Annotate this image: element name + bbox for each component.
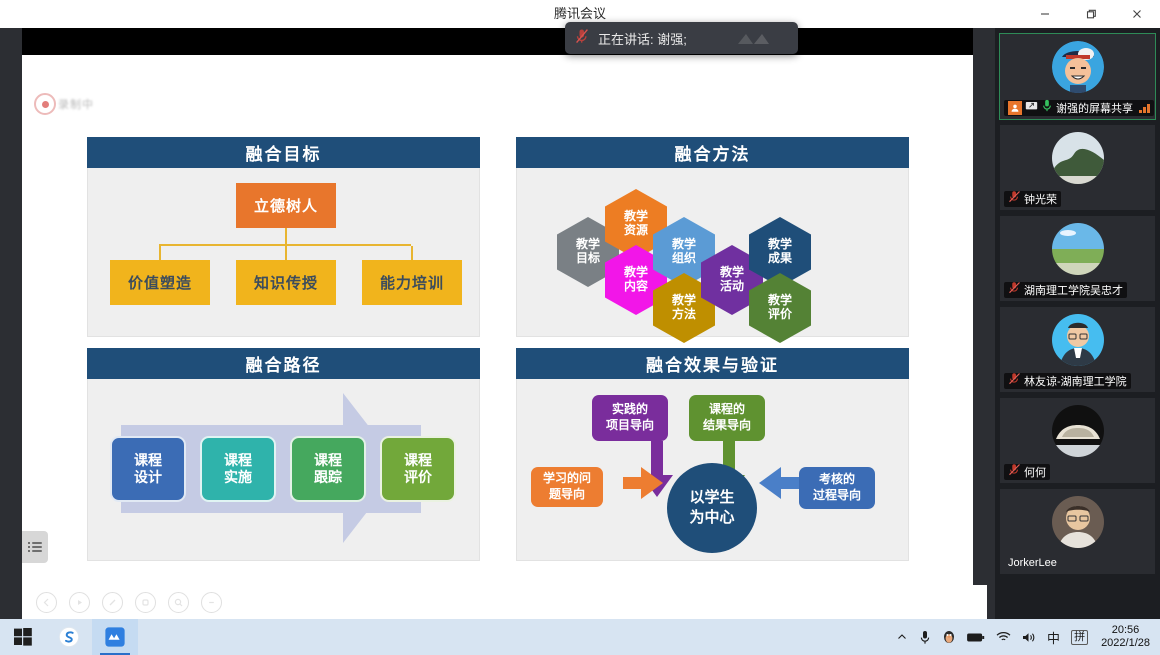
recording-icon [34, 93, 56, 115]
avatar [1052, 405, 1104, 457]
quadrant-goals-body: 立德树人 价值塑造 知识传授 能力培训 [87, 168, 480, 337]
participant-tile[interactable]: JorkerLee [1000, 489, 1155, 574]
ime-mode[interactable]: 中 [1047, 628, 1060, 647]
ppt-top-band [22, 28, 973, 55]
participant-tile[interactable]: 钟光荣 [1000, 125, 1155, 210]
wps-icon[interactable] [92, 619, 138, 655]
avatar [1052, 314, 1104, 366]
path-step: 课程设计 [110, 436, 186, 502]
effect-center-circle: 以学生为中心 [667, 463, 757, 553]
avatar [1052, 223, 1104, 275]
path-step: 课程评价 [380, 436, 456, 502]
participant-tile[interactable]: 谢强的屏幕共享 [1000, 34, 1155, 119]
pointer-hand-icon[interactable] [135, 592, 156, 613]
hexagon-cluster: 教学目标教学资源教学内容教学组织教学方法教学活动教学成果教学评价 [517, 168, 910, 336]
clock[interactable]: 20:56 2022/1/28 [1099, 624, 1150, 650]
penguin-icon[interactable] [942, 630, 956, 645]
participant-nametag: 何何 [1004, 464, 1050, 480]
goal-root-node: 立德树人 [236, 183, 336, 228]
avatar [1052, 496, 1104, 548]
window-controls [1022, 0, 1160, 28]
participant-nametag: 谢强的屏幕共享 [1004, 100, 1154, 116]
sogou-icon[interactable] [46, 619, 92, 655]
mic-muted-icon [1008, 372, 1021, 390]
mic-on-green-icon [1041, 99, 1053, 117]
minimize-button[interactable] [1022, 0, 1068, 28]
restore-button[interactable] [1068, 0, 1114, 28]
quadrant-path-title: 融合路径 [87, 348, 480, 379]
effect-box: 实践的项目导向 [592, 395, 668, 441]
clock-date: 2022/1/28 [1101, 637, 1150, 650]
participant-nametag: 钟光荣 [1004, 191, 1061, 207]
quadrant-effect: 融合效果与验证 实践的项目导向课程的结果导向学习的问题导向考核的过程导向 以学生… [516, 348, 909, 561]
goal-connector-drop-3 [411, 246, 413, 260]
start-button[interactable] [0, 619, 46, 655]
play-icon[interactable] [69, 592, 90, 613]
right-rail [973, 28, 995, 620]
windows-taskbar: 中 拼 20:56 2022/1/28 [0, 619, 1160, 655]
goal-connector-drop-2 [285, 246, 287, 260]
effect-box: 课程的结果导向 [689, 395, 765, 441]
left-rail [0, 28, 22, 620]
participant-name: 林友谅-湖南理工学院 [1024, 373, 1127, 389]
zoom-icon[interactable] [168, 592, 189, 613]
pen-icon[interactable] [102, 592, 123, 613]
participant-name: 湖南理工学院吴忠才 [1024, 282, 1123, 298]
speaker-text: 正在讲话: 谢强; [598, 29, 687, 48]
quadrant-path-body: 课程设计课程实施课程跟踪课程评价 [87, 379, 480, 561]
participant-tile[interactable]: 林友谅-湖南理工学院 [1000, 307, 1155, 392]
system-tray: 中 拼 20:56 2022/1/28 [896, 624, 1160, 650]
close-button[interactable] [1114, 0, 1160, 28]
participant-nametag: 湖南理工学院吴忠才 [1004, 282, 1127, 298]
goal-child-3: 能力培训 [362, 260, 462, 305]
mic-icon[interactable] [919, 630, 931, 645]
quadrant-goals-title: 融合目标 [87, 137, 480, 168]
participant-tile[interactable]: 何何 [1000, 398, 1155, 483]
mic-muted-icon [1008, 281, 1021, 299]
participant-name: 钟光荣 [1024, 191, 1057, 207]
speaker-icon[interactable] [1022, 631, 1036, 644]
screen-share-icon [1025, 99, 1038, 117]
participant-name: 何何 [1024, 464, 1046, 480]
goal-child-1: 价值塑造 [110, 260, 210, 305]
mic-muted-icon [1008, 190, 1021, 208]
goal-connector-drop-1 [159, 246, 161, 260]
participant-name: 谢强的屏幕共享 [1056, 100, 1133, 116]
path-step: 课程实施 [200, 436, 276, 502]
taskbar-apps [0, 619, 138, 655]
participant-name: JorkerLee [1008, 557, 1057, 569]
active-speaker-banner: 正在讲话: 谢强; [565, 22, 798, 54]
quadrant-methods-title: 融合方法 [516, 137, 909, 168]
avatar [1052, 41, 1104, 93]
quadrant-path: 融合路径 课程设计课程实施课程跟踪课程评价 [87, 348, 480, 561]
tencent-meeting-window: 腾讯会议 录制中 [0, 0, 1160, 655]
avatar [1052, 132, 1104, 184]
ppt-toolbar [22, 585, 987, 620]
slide-panel-toggle[interactable] [22, 531, 48, 563]
recording-label: 录制中 [58, 96, 94, 112]
path-step: 课程跟踪 [290, 436, 366, 502]
previous-slide-icon[interactable] [36, 592, 57, 613]
clock-time: 20:56 [1101, 624, 1150, 637]
host-person-icon [1008, 101, 1022, 115]
quadrant-effect-title: 融合效果与验证 [516, 348, 909, 379]
shared-screen-area: 录制中 融合目标 立德树人 价值塑造 知识传授 能力培训 [0, 28, 995, 620]
quadrant-effect-body: 实践的项目导向课程的结果导向学习的问题导向考核的过程导向 以学生为中心 [516, 379, 909, 561]
ime-badge[interactable]: 拼 [1071, 630, 1088, 645]
participant-nametag: JorkerLee [1004, 555, 1061, 571]
goal-child-2: 知识传授 [236, 260, 336, 305]
participant-nametag: 林友谅-湖南理工学院 [1004, 373, 1131, 389]
mic-muted-icon [1008, 463, 1021, 481]
slide-content-grid: 融合目标 立德树人 价值塑造 知识传授 能力培训 融合 [87, 137, 909, 577]
effect-box: 考核的过程导向 [799, 467, 875, 509]
effect-box: 学习的问题导向 [531, 467, 603, 507]
wifi-icon[interactable] [996, 631, 1011, 643]
meeting-watermark-icon [736, 31, 784, 52]
mic-muted-red-icon [575, 28, 589, 49]
quadrant-goals: 融合目标 立德树人 价值塑造 知识传授 能力培训 [87, 137, 480, 337]
participant-list[interactable]: 谢强的屏幕共享钟光荣湖南理工学院吴忠才林友谅-湖南理工学院何何JorkerLee [995, 28, 1160, 626]
chevron-up-icon[interactable] [896, 631, 908, 643]
battery-icon[interactable] [967, 632, 985, 643]
signal-bars-icon [1139, 104, 1150, 113]
slide-list-icon [28, 540, 42, 554]
presentation-slide: 录制中 融合目标 立德树人 价值塑造 知识传授 能力培训 [22, 55, 973, 585]
minimize-toolbar-icon[interactable] [201, 592, 222, 613]
participant-tile[interactable]: 湖南理工学院吴忠才 [1000, 216, 1155, 301]
quadrant-methods-body: 教学目标教学资源教学内容教学组织教学方法教学活动教学成果教学评价 [516, 168, 909, 337]
quadrant-methods: 融合方法 教学目标教学资源教学内容教学组织教学方法教学活动教学成果教学评价 [516, 137, 909, 337]
goal-connector-vertical [285, 228, 287, 245]
